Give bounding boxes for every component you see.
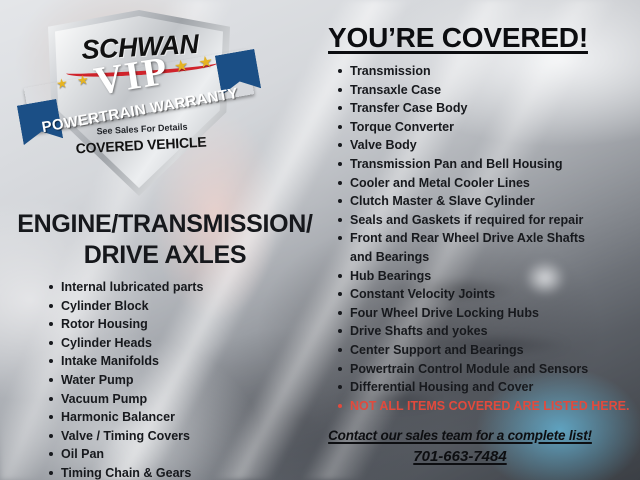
list-item: Cooler and Metal Cooler Lines (337, 174, 632, 193)
list-item: Front and Rear Wheel Drive Axle Shafts (337, 229, 632, 248)
list-item: Powertrain Control Module and Sensors (337, 360, 632, 379)
list-item: Internal lubricated parts (48, 278, 313, 297)
contact-phone[interactable]: 701-663-7484 (310, 448, 610, 465)
list-item: Intake Manifolds (48, 352, 313, 371)
list-item: Torque Converter (337, 118, 632, 137)
list-item: Rotor Housing (48, 315, 313, 334)
list-item: Cylinder Heads (48, 334, 313, 353)
list-item: Vacuum Pump (48, 390, 313, 409)
covered-items-left-list: Internal lubricated parts Cylinder Block… (48, 278, 313, 480)
left-section-heading: ENGINE/TRANSMISSION/ DRIVE AXLES (6, 209, 324, 271)
list-item: Constant Velocity Joints (337, 285, 632, 304)
coverage-disclaimer: NOT ALL ITEMS COVERED ARE LISTED HERE. (337, 397, 632, 416)
list-item: Valve / Timing Covers (48, 427, 313, 446)
right-heading-text: YOU’RE COVERED! (328, 22, 588, 53)
contact-phone-text[interactable]: 701-663-7484 (413, 448, 506, 465)
list-item-continuation: and Bearings (337, 248, 632, 267)
left-heading-line-2: DRIVE AXLES (84, 241, 246, 269)
list-item: Four Wheel Drive Locking Hubs (337, 304, 632, 323)
right-section-heading: YOU’RE COVERED! (310, 22, 606, 54)
warranty-badge: SCHWAN ★ ★ VIP ★ ★ POWERTRAIN WARRANTY S… (22, 6, 256, 202)
list-item: Center Support and Bearings (337, 341, 632, 360)
contact-cta: Contact our sales team for a complete li… (310, 428, 610, 443)
list-item: Oil Pan (48, 445, 313, 464)
list-item: Hub Bearings (337, 267, 632, 286)
list-item: Timing Chain & Gears (48, 464, 313, 480)
promo-flyer: SCHWAN ★ ★ VIP ★ ★ POWERTRAIN WARRANTY S… (0, 0, 640, 480)
list-item: Drive Shafts and yokes (337, 322, 632, 341)
list-item: Transmission (337, 62, 632, 81)
covered-items-right-list: Transmission Transaxle Case Transfer Cas… (337, 62, 632, 415)
list-item: Transmission Pan and Bell Housing (337, 155, 632, 174)
list-item: Transfer Case Body (337, 99, 632, 118)
left-heading-line-1: ENGINE/TRANSMISSION/ (17, 210, 312, 238)
contact-cta-text: Contact our sales team for a complete li… (328, 428, 592, 443)
list-item: Harmonic Balancer (48, 408, 313, 427)
list-item: Water Pump (48, 371, 313, 390)
list-item: Seals and Gaskets if required for repair (337, 211, 632, 230)
list-item: Cylinder Block (48, 297, 313, 316)
list-item: Valve Body (337, 136, 632, 155)
list-item: Transaxle Case (337, 81, 632, 100)
list-item: Clutch Master & Slave Cylinder (337, 192, 632, 211)
list-item: Differential Housing and Cover (337, 378, 632, 397)
